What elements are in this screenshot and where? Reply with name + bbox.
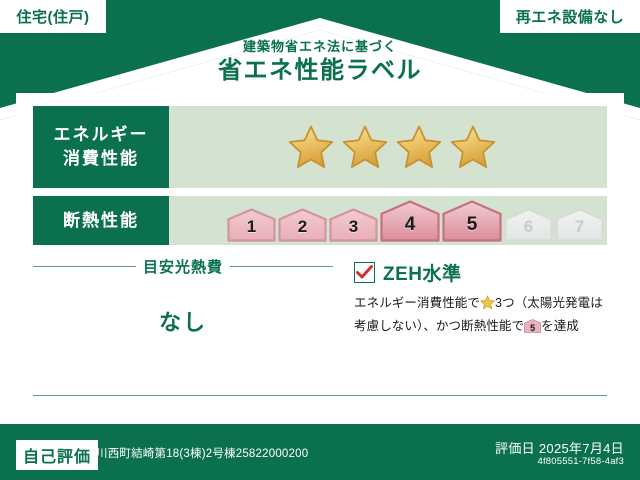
insulation-level-scale: 1234567 [169,200,604,242]
utility-cost-heading: 目安光熱費 [33,256,333,277]
star-icon [287,124,335,170]
insulation-level-label: 7 [575,217,584,237]
row-energy-performance: エネルギー 消費性能 [33,106,607,188]
insulation-badge-inline-label: 5 [524,318,541,338]
insulation-level-label: 4 [405,214,416,236]
zeh-description: エネルギー消費性能で 3つ（太陽光発電は考慮しない）、かつ断熱性能で 5 を達成 [354,293,609,339]
label-card: エネルギー 消費性能 断熱性能 1234567 目安光熱費 なし [16,93,624,416]
star-icon [449,124,497,170]
zeh-desc-part3: を達成 [541,319,579,333]
insulation-level-badge: 3 [329,208,378,242]
star-rating [169,124,497,170]
evaluation-id: 4f805551-7f58-4af3 [537,456,624,467]
star-icon-inline [480,295,495,316]
utility-cost-block: 目安光熱費 なし [33,256,333,337]
utility-cost-heading-text: 目安光熱費 [143,256,223,277]
row-insulation-value: 1234567 [169,196,607,245]
checkbox-checked-icon [354,262,375,283]
evaluation-date-label: 評価日 [495,441,535,456]
star-icon [395,124,443,170]
page-title: 省エネ性能ラベル [0,56,640,86]
zeh-standard-block: ZEH水準 エネルギー消費性能で 3つ（太陽光発電は考慮しない）、かつ断熱性能で… [354,259,609,339]
utility-cost-value: なし [33,305,333,337]
row-insulation-label-line1: 断熱性能 [63,209,139,233]
insulation-level-label: 6 [524,217,533,237]
label-footer: 自己評価 川西町結崎第18(3棟)2号棟25822000200 評価日 2025… [0,416,640,480]
row-energy-label-line2: 消費性能 [63,147,139,171]
self-evaluation-badge: 自己評価 [16,440,98,470]
insulation-level-label: 5 [467,214,478,236]
heading-rule-left [33,266,136,267]
evaluation-date: 評価日 2025年7月4日 [495,438,624,457]
insulation-badge-inline: 5 [524,319,541,339]
tag-renewable-equipment: 再エネ設備なし [500,0,640,33]
row-energy-label: エネルギー 消費性能 [33,106,169,188]
insulation-level-label: 1 [247,217,256,237]
insulation-level-badge: 2 [278,208,327,242]
star-icon [341,124,389,170]
zeh-title: ZEH水準 [383,259,462,286]
building-name: 川西町結崎第18(3棟)2号棟25822000200 [96,445,308,461]
page-title-block: 建築物省エネ法に基づく 省エネ性能ラベル [0,38,640,86]
row-insulation-performance: 断熱性能 1234567 [33,196,607,245]
insulation-level-badge: 1 [227,208,276,242]
title-subtitle: 建築物省エネ法に基づく [0,38,640,56]
row-insulation-label: 断熱性能 [33,196,169,245]
insulation-level-badge: 7 [555,208,604,242]
insulation-level-label: 3 [349,217,358,237]
insulation-level-label: 2 [298,217,307,237]
row-energy-label-line1: エネルギー [54,123,149,147]
insulation-level-badge: 4 [380,200,440,242]
evaluation-date-value: 2025年7月4日 [539,441,624,456]
row-energy-value [169,106,607,188]
card-bottom-divider [33,395,607,396]
heading-rule-right [230,266,333,267]
insulation-level-badge: 6 [504,208,553,242]
zeh-title-row: ZEH水準 [354,259,609,286]
energy-performance-label: 住宅(住戸) 再エネ設備なし 建築物省エネ法に基づく 省エネ性能ラベル エネルギ… [0,0,640,480]
insulation-level-badge: 5 [442,200,502,242]
zeh-desc-part1: エネルギー消費性能で [354,296,480,310]
tag-housing-type: 住宅(住戸) [0,0,106,33]
